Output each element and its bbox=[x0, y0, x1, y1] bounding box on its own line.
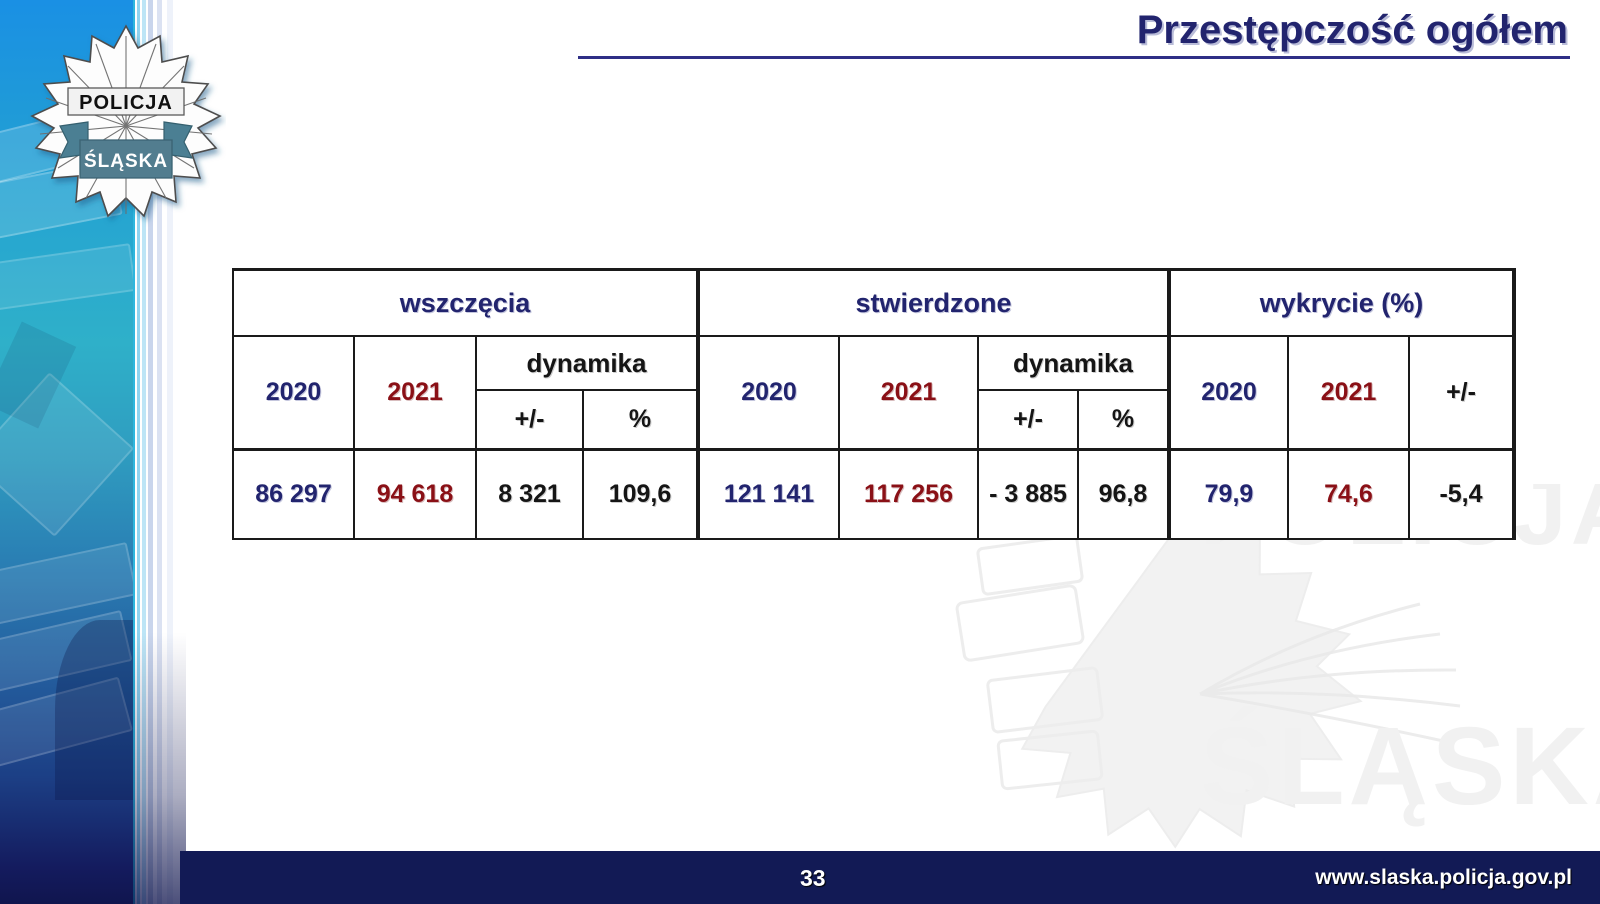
police-star-badge: POLICJA ŚLĄSKA bbox=[26, 22, 226, 234]
subheader-stwierdzone-2021: 2021 bbox=[839, 336, 978, 450]
cell-stwierdzone-2020: 121 141 bbox=[698, 450, 839, 540]
crime-statistics-table: wszczęcia stwierdzone wykrycie (%) 2020 … bbox=[232, 268, 1516, 540]
page-title: Przestępczość ogółem bbox=[1137, 8, 1568, 53]
subheader-stwierdzone-dyn-plusminus: +/- bbox=[978, 390, 1078, 450]
cell-stwierdzone-2021: 117 256 bbox=[839, 450, 978, 540]
subheader-wszczecia-2021: 2021 bbox=[354, 336, 476, 450]
subheader-wykrycie-2021: 2021 bbox=[1288, 336, 1409, 450]
footer-website-link[interactable]: www.slaska.policja.gov.pl bbox=[1315, 866, 1572, 890]
subheader-stwierdzone-dyn-percent: % bbox=[1078, 390, 1169, 450]
subheader-wszczecia-dyn-plusminus: +/- bbox=[476, 390, 583, 450]
table-group-header-row: wszczęcia stwierdzone wykrycie (%) bbox=[233, 270, 1514, 337]
background-badge-watermark: POLICJA ŚLĄSKA bbox=[900, 484, 1600, 864]
statistics-table-wrapper: wszczęcia stwierdzone wykrycie (%) 2020 … bbox=[232, 268, 1516, 540]
slide-canvas: POLICJA ŚLĄSKA bbox=[0, 0, 1600, 904]
sidebar-shadow bbox=[55, 620, 145, 800]
title-underline-rule bbox=[578, 56, 1570, 59]
footer-bar: 33 www.slaska.policja.gov.pl bbox=[180, 851, 1600, 904]
sidebar-book-watermark bbox=[0, 243, 136, 315]
subheader-wszczecia-dynamika: dynamika bbox=[476, 336, 698, 390]
cell-stwierdzone-dyn-pct: 96,8 bbox=[1078, 450, 1169, 540]
cell-wszczecia-dyn-pm: 8 321 bbox=[476, 450, 583, 540]
svg-text:POLICJA: POLICJA bbox=[79, 92, 173, 114]
group-header-wszczecia: wszczęcia bbox=[233, 270, 698, 337]
subheader-wykrycie-plusminus: +/- bbox=[1409, 336, 1514, 450]
subheader-wszczecia-dyn-percent: % bbox=[583, 390, 698, 450]
subheader-wykrycie-2020: 2020 bbox=[1169, 336, 1288, 450]
cell-wszczecia-2021: 94 618 bbox=[354, 450, 476, 540]
cell-wszczecia-2020: 86 297 bbox=[233, 450, 354, 540]
cell-wykrycie-2020: 79,9 bbox=[1169, 450, 1288, 540]
cell-wykrycie-pm: -5,4 bbox=[1409, 450, 1514, 540]
page-number: 33 bbox=[800, 865, 826, 892]
subheader-stwierdzone-2020: 2020 bbox=[698, 336, 839, 450]
table-subheader-row-1: 2020 2021 dynamika 2020 2021 dynamika 20… bbox=[233, 336, 1514, 390]
cell-wykrycie-2021: 74,6 bbox=[1288, 450, 1409, 540]
subheader-wszczecia-2020: 2020 bbox=[233, 336, 354, 450]
cell-wszczecia-dyn-pct: 109,6 bbox=[583, 450, 698, 540]
watermark-slaska-text: ŚLĄSKA bbox=[1200, 705, 1600, 828]
svg-text:ŚLĄSKA: ŚLĄSKA bbox=[84, 150, 168, 172]
badge-slaska-ribbon: ŚLĄSKA bbox=[80, 140, 172, 178]
group-header-stwierdzone: stwierdzone bbox=[698, 270, 1169, 337]
subheader-stwierdzone-dynamika: dynamika bbox=[978, 336, 1169, 390]
badge-policja-plate: POLICJA bbox=[68, 88, 184, 115]
group-header-wykrycie: wykrycie (%) bbox=[1169, 270, 1514, 337]
table-row: 86 297 94 618 8 321 109,6 121 141 117 25… bbox=[233, 450, 1514, 540]
cell-stwierdzone-dyn-pm: - 3 885 bbox=[978, 450, 1078, 540]
